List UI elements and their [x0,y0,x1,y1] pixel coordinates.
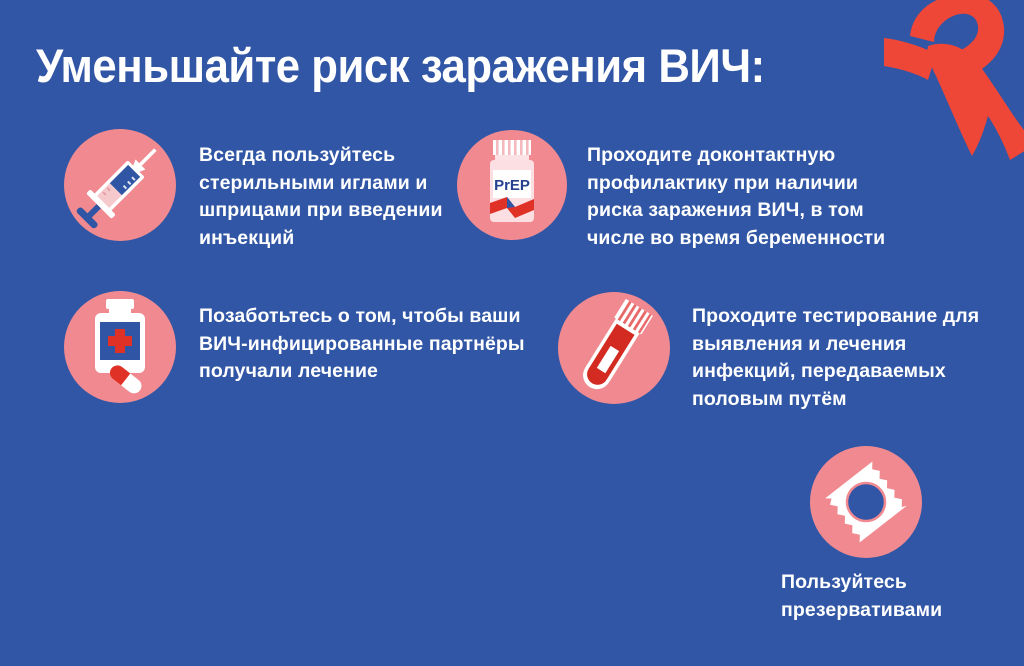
tip-partners-text: Позаботьтесь о том, чтобы ваши ВИЧ-инфиц… [199,303,529,386]
medicine-bottle-pill-icon [64,291,176,403]
blood-test-tube-icon [558,292,670,404]
tip-needles-text: Всегда пользуйтесь стерильными иглами и … [199,142,444,253]
tip-testing-text: Проходите тестирование для выявления и л… [692,303,982,414]
tip-condoms-text: Пользуйтесь презервативами [781,569,1011,624]
syringe-icon [64,129,176,241]
tip-prep-text: Проходите доконтактную профилактику при … [587,142,897,253]
prep-label: PrEP [494,177,530,194]
page-title: Уменьшайте риск заражения ВИЧ: [36,41,873,90]
red-awareness-ribbon [884,0,1024,174]
prep-pill-bottle-icon: PrEP [457,130,567,240]
hiv-prevention-poster: Уменьшайте риск заражения ВИЧ: [0,0,1024,666]
condom-wrapper-icon [810,446,922,558]
